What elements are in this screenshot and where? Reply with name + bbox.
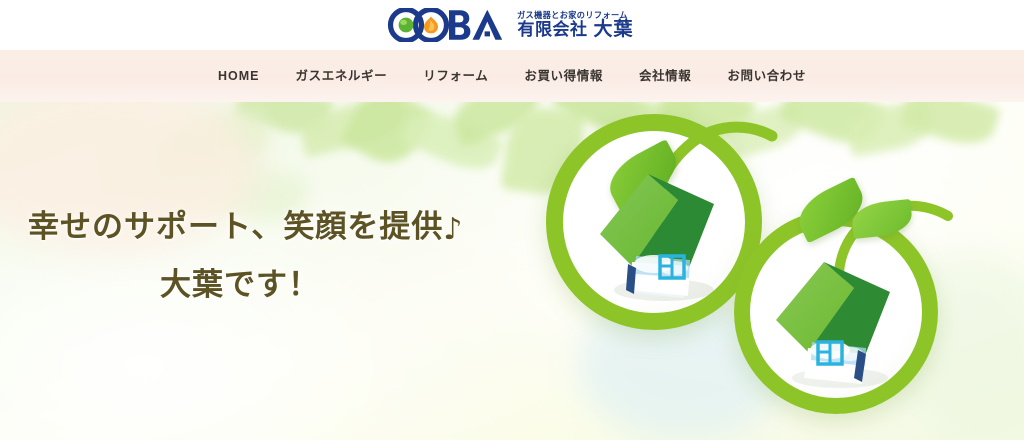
illustration-2-house: [770, 250, 908, 392]
logo-company-name: 有限会社大葉: [517, 20, 633, 39]
nav-list: HOME ガスエネルギー リフォーム お買い得情報 会社情報 お問い合わせ: [200, 64, 824, 89]
site-header: ガス機器とお家のリフォーム 有限会社大葉: [0, 0, 1024, 50]
homepage: ガス機器とお家のリフォーム 有限会社大葉 HOME ガスエネルギー リフォーム …: [0, 0, 1024, 440]
logo-tagline: ガス機器とお家のリフォーム: [517, 11, 628, 20]
logo-text-block: ガス機器とお家のリフォーム 有限会社大葉: [517, 11, 633, 40]
main-navigation: HOME ガスエネルギー リフォーム お買い得情報 会社情報 お問い合わせ: [0, 50, 1024, 102]
hero-copy: 幸せのサポート、笑顔を提供♪ 大葉です！: [0, 210, 520, 303]
music-note-icon: ♪: [443, 213, 463, 248]
nav-item-deals[interactable]: お買い得情報: [506, 64, 621, 89]
illustration-1-house: [592, 160, 734, 304]
nav-item-reform[interactable]: リフォーム: [405, 64, 506, 89]
hero-headline-line2: 大葉です！: [0, 268, 520, 304]
nav-item-gas-energy[interactable]: ガスエネルギー: [278, 64, 406, 89]
site-logo[interactable]: ガス機器とお家のリフォーム 有限会社大葉: [386, 8, 633, 42]
company-name: 大葉: [593, 19, 633, 40]
hero-headline-text1: 幸せのサポート、笑顔を提供: [28, 209, 443, 245]
ooba-logo-mark: [386, 8, 504, 42]
hero-banner: 幸せのサポート、笑顔を提供♪ 大葉です！: [0, 102, 1024, 440]
nav-item-home[interactable]: HOME: [200, 64, 278, 89]
nav-item-company[interactable]: 会社情報: [621, 64, 709, 89]
hero-headline-line1: 幸せのサポート、笑顔を提供♪: [0, 210, 520, 246]
company-prefix: 有限会社: [517, 20, 587, 39]
nav-item-contact[interactable]: お問い合わせ: [709, 64, 824, 89]
